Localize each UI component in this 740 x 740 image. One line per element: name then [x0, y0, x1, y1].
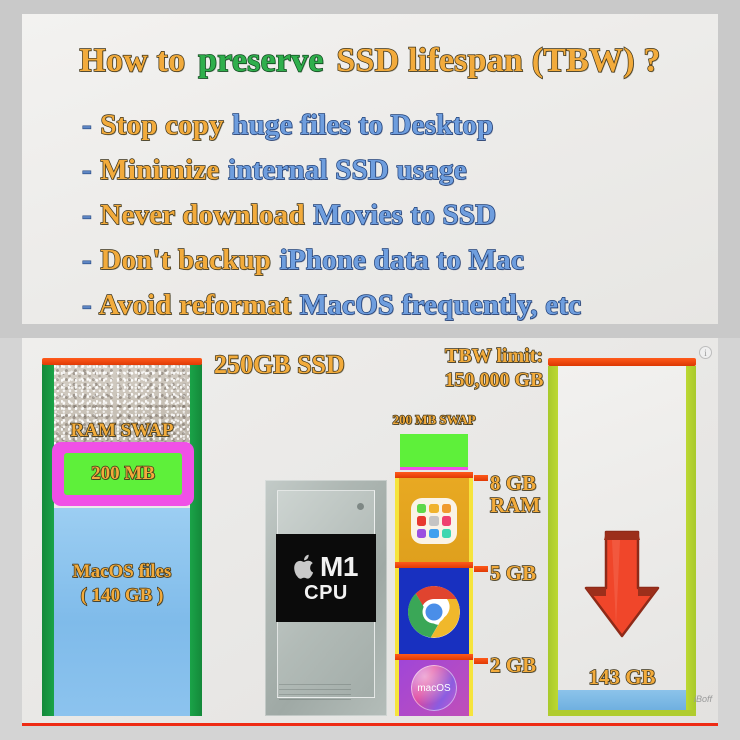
ssd-caption: 250GB SSD — [214, 350, 345, 380]
tbw-top-cap — [548, 358, 696, 366]
ram-label-8gb-line1: 8 GB — [490, 472, 540, 494]
app-tile — [429, 516, 438, 525]
tbw-used-label: 143 GB — [548, 665, 696, 690]
tbw-right-edge — [686, 366, 696, 716]
macos-files-block: MacOS files ( 140 GB ) — [54, 508, 190, 716]
ram-segment-8gb — [395, 478, 473, 564]
tip-item-5: - Avoid reformat MacOS frequently, etc — [82, 289, 582, 322]
ram-tick-8gb — [474, 475, 488, 481]
ram-label-5gb: 5 GB — [490, 562, 536, 584]
tip-item-1: - Stop copy huge files to Desktop — [82, 109, 494, 142]
tip-highlight: Avoid reformat — [99, 289, 292, 321]
ram-swap-top-label: 200 MB SWAP — [379, 412, 489, 428]
tip-highlight: Never download — [100, 199, 304, 231]
tbw-budget-bar: 143 GB — [548, 358, 696, 716]
down-arrow-icon — [582, 526, 662, 647]
ram-tick-2gb — [474, 658, 488, 664]
tip-highlight: Minimize — [100, 154, 219, 186]
diagram-panel: RAM SWAP 200 MB MacOS files ( 140 GB ) 2… — [0, 338, 740, 740]
tip-item-4: - Don't backup iPhone data to Mac — [82, 244, 525, 277]
app-tile — [417, 504, 426, 513]
bullet-dash: - — [82, 199, 92, 231]
tip-highlight: Stop copy — [100, 109, 223, 141]
app-tile — [429, 529, 438, 538]
title-part-3: SSD lifespan (TBW) ? — [336, 42, 660, 79]
tbw-bottom-edge — [548, 710, 696, 716]
app-tile — [429, 504, 438, 513]
ram-label-8gb: 8 GB RAM — [490, 472, 540, 516]
tbw-used-fill — [558, 690, 686, 710]
info-icon[interactable]: i — [699, 346, 712, 359]
apple-logo-icon — [294, 552, 318, 582]
tbw-left-edge — [548, 366, 558, 716]
chip-die: M1 CPU — [276, 534, 376, 622]
title-part-2: preserve — [198, 42, 324, 79]
tip-highlight: Don't backup — [100, 244, 271, 276]
ram-label-8gb-line2: RAM — [490, 494, 540, 516]
app-tile — [442, 529, 451, 538]
tip-rest: MacOS frequently, etc — [300, 289, 582, 321]
ssd-right-edge — [190, 364, 202, 716]
ssd-top-cap — [42, 358, 202, 365]
ram-segment-2gb: macOS — [395, 660, 473, 716]
diagram-baseline — [22, 723, 718, 726]
page-title: How to preserve SSD lifespan (TBW) ? — [22, 42, 718, 80]
ram-segment-5gb — [395, 568, 473, 656]
ssd-left-edge — [42, 364, 54, 716]
tip-rest: Movies to SSD — [313, 199, 496, 231]
chip-kind-label: CPU — [304, 582, 348, 605]
app-tile — [442, 504, 451, 513]
bullet-dash: - — [82, 109, 92, 141]
ssd-capacity-bar: RAM SWAP 200 MB MacOS files ( 140 GB ) — [42, 358, 202, 716]
app-tile — [417, 529, 426, 538]
tip-item-2: - Minimize internal SSD usage — [82, 154, 468, 187]
macos-files-title: MacOS files — [54, 560, 190, 584]
ram-swap-segment — [400, 434, 468, 470]
ram-swap-label: RAM SWAP — [42, 420, 202, 442]
chip-die-row: M1 — [294, 551, 358, 583]
m1-chip: M1 CPU — [265, 480, 387, 716]
tip-rest: iPhone data to Mac — [280, 244, 524, 276]
macos-files-size: ( 140 GB ) — [54, 584, 190, 608]
ram-swap-size: 200 MB — [64, 453, 182, 495]
tip-item-3: - Never download Movies to SSD — [82, 199, 497, 232]
title-part-1: How to — [79, 42, 185, 79]
bullet-dash: - — [82, 244, 92, 276]
chip-orientation-dot — [357, 503, 364, 510]
watermark: iBoff — [694, 694, 712, 704]
chip-fine-print — [279, 684, 351, 700]
chrome-icon — [408, 586, 460, 638]
app-tile — [417, 516, 426, 525]
ram-swap-highlight-box: 200 MB — [52, 442, 194, 506]
macos-icon: macOS — [411, 665, 457, 711]
tip-rest: huge files to Desktop — [232, 109, 493, 141]
bullet-dash: - — [82, 154, 92, 186]
diagram-canvas: RAM SWAP 200 MB MacOS files ( 140 GB ) 2… — [22, 338, 718, 726]
app-grid-icon — [411, 498, 457, 544]
app-tile — [442, 516, 451, 525]
headline-panel: How to preserve SSD lifespan (TBW) ? - S… — [0, 0, 740, 338]
macos-icon-label: macOS — [417, 683, 450, 694]
macos-files-label: MacOS files ( 140 GB ) — [54, 560, 190, 608]
bullet-dash: - — [82, 289, 92, 321]
tip-rest: internal SSD usage — [228, 154, 467, 186]
ram-usage-stack: 200 MB SWAP — [395, 434, 473, 716]
chip-model-label: M1 — [320, 551, 358, 583]
ram-label-2gb: 2 GB — [490, 654, 536, 676]
ram-tick-5gb — [474, 566, 488, 572]
headline-inner: How to preserve SSD lifespan (TBW) ? - S… — [22, 14, 718, 324]
